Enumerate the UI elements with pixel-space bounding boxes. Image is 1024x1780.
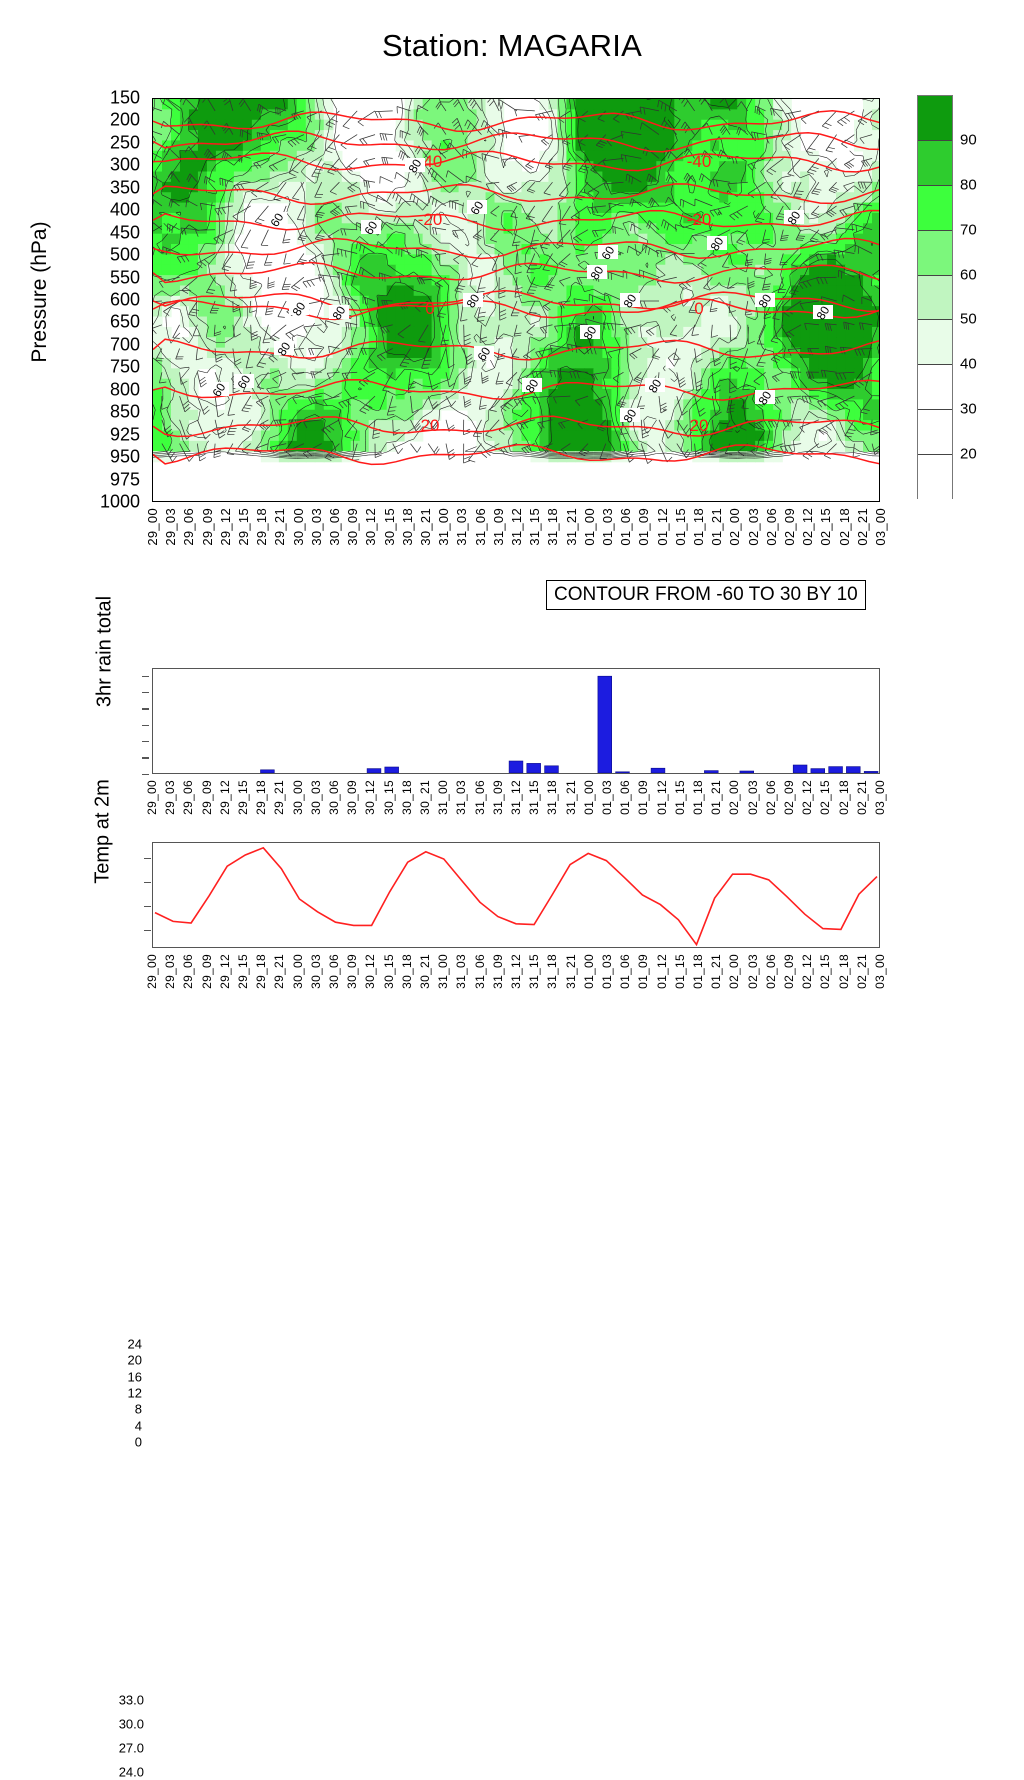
x-tick-02_18: 02_18 (837, 780, 851, 815)
x-tick-02_03: 02_03 (746, 780, 760, 815)
pressure-tick-300: 300 (96, 155, 140, 176)
rain-bar (829, 767, 843, 773)
page-title: Station: MAGARIA (0, 28, 1024, 64)
rain-tick-0: 0 (102, 1435, 142, 1450)
x-tick-30_06: 30_06 (327, 508, 342, 546)
x-tick-01_00: 01_00 (582, 780, 596, 815)
x-tick-02_00: 02_00 (727, 780, 741, 815)
colorbar-tick-60: 60 (960, 266, 977, 283)
x-tick-01_21: 01_21 (709, 954, 723, 989)
x-tick-30_03: 30_03 (309, 954, 323, 989)
temp-contour-label: 20 (421, 416, 440, 435)
x-tick-01_15: 01_15 (673, 954, 687, 989)
x-tick-31_18: 31_18 (545, 780, 559, 815)
x-tick-29_06: 29_06 (181, 954, 195, 989)
x-tick-29_12: 29_12 (218, 780, 232, 815)
x-tick-31_00: 31_00 (436, 508, 451, 546)
x-tick-01_18: 01_18 (691, 780, 705, 815)
x-tick-02_21: 02_21 (855, 508, 870, 546)
pressure-tick-250: 250 (96, 132, 140, 153)
colorbar-tick-80: 80 (960, 176, 977, 193)
colorbar-band-2 (918, 186, 952, 231)
x-tick-29_03: 29_03 (163, 508, 178, 546)
x-tick-31_09: 31_09 (491, 954, 505, 989)
x-tick-29_09: 29_09 (200, 954, 214, 989)
temp-y-axis-ticks: 24.027.030.033.0 (96, 842, 146, 948)
colorbar-band-4 (918, 276, 952, 321)
pressure-tick-850: 850 (96, 402, 140, 423)
main-x-axis-ticks: 29_0029_0329_0629_0929_1229_1529_1829_21… (152, 508, 880, 578)
temp-contour-label: -20 (687, 210, 712, 229)
temp-plot-svg (153, 843, 879, 947)
rain-bar-chart[interactable] (152, 668, 880, 774)
x-tick-29_18: 29_18 (254, 508, 269, 546)
x-tick-31_09: 31_09 (491, 508, 506, 546)
rain-plot-svg (153, 669, 879, 773)
x-tick-30_00: 30_00 (291, 508, 306, 546)
colorbar-band-3 (918, 231, 952, 276)
x-tick-29_09: 29_09 (200, 508, 215, 546)
x-tick-31_03: 31_03 (454, 780, 468, 815)
x-tick-30_03: 30_03 (309, 508, 324, 546)
x-tick-01_00: 01_00 (582, 508, 597, 546)
x-tick-01_00: 01_00 (582, 954, 596, 989)
x-tick-31_21: 31_21 (564, 954, 578, 989)
x-tick-02_18: 02_18 (837, 508, 852, 546)
x-tick-02_06: 02_06 (764, 780, 778, 815)
rain-bar (616, 772, 630, 773)
main-plot-svg: -40-40-20-200020206060606060606080808080… (153, 99, 880, 502)
x-tick-02_12: 02_12 (800, 780, 814, 815)
main-y-axis-label: Pressure (hPa) (28, 112, 52, 472)
x-tick-29_15: 29_15 (236, 954, 250, 989)
rain-tickmark (142, 757, 149, 758)
x-tick-30_06: 30_06 (327, 954, 341, 989)
pressure-tick-200: 200 (96, 110, 140, 131)
x-tick-31_00: 31_00 (436, 780, 450, 815)
colorbar-tick-90: 90 (960, 131, 977, 148)
x-tick-29_21: 29_21 (272, 508, 287, 546)
x-tick-02_09: 02_09 (782, 780, 796, 815)
contour-note-box: CONTOUR FROM -60 TO 30 BY 10 (546, 580, 866, 610)
pressure-tick-600: 600 (96, 290, 140, 311)
x-tick-31_18: 31_18 (545, 954, 559, 989)
colorbar-band-6 (918, 365, 952, 410)
temp-contour-label: 0 (694, 299, 703, 318)
x-tick-31_21: 31_21 (564, 780, 578, 815)
colorbar-band-7 (918, 410, 952, 455)
colorbar-band-5 (918, 320, 952, 365)
x-tick-30_21: 30_21 (418, 780, 432, 815)
x-tick-29_18: 29_18 (254, 954, 268, 989)
x-tick-02_21: 02_21 (855, 780, 869, 815)
rain-bar (793, 765, 807, 773)
x-tick-02_03: 02_03 (746, 954, 760, 989)
pressure-tick-650: 650 (96, 312, 140, 333)
rain-bar (509, 761, 523, 773)
x-tick-31_00: 31_00 (436, 954, 450, 989)
x-tick-30_12: 30_12 (363, 508, 378, 546)
rain-tick-16: 16 (102, 1369, 142, 1384)
rain-bar (846, 767, 860, 773)
x-tick-29_09: 29_09 (200, 780, 214, 815)
x-tick-02_21: 02_21 (855, 954, 869, 989)
x-tick-30_12: 30_12 (363, 954, 377, 989)
temp-tickmark (144, 882, 151, 883)
rain-tickmark (142, 708, 149, 709)
pressure-tick-500: 500 (96, 245, 140, 266)
x-tick-31_06: 31_06 (473, 508, 488, 546)
x-tick-29_00: 29_00 (145, 780, 159, 815)
x-tick-30_18: 30_18 (400, 780, 414, 815)
time-height-cross-section[interactable]: -40-40-20-200020206060606060606080808080… (152, 98, 880, 502)
rain-tickmark (142, 676, 149, 677)
temp-tick-33.0: 33.0 (98, 1693, 144, 1708)
x-tick-30_00: 30_00 (291, 954, 305, 989)
x-tick-29_12: 29_12 (218, 508, 233, 546)
x-tick-01_18: 01_18 (691, 954, 705, 989)
rain-tick-24: 24 (102, 1337, 142, 1352)
x-tick-29_03: 29_03 (163, 780, 177, 815)
x-tick-02_12: 02_12 (800, 954, 814, 989)
rain-tickmark (142, 692, 149, 693)
rain-bar (385, 767, 399, 773)
x-tick-02_00: 02_00 (727, 954, 741, 989)
rain-tick-20: 20 (102, 1353, 142, 1368)
x-tick-02_15: 02_15 (818, 780, 832, 815)
pressure-tick-400: 400 (96, 200, 140, 221)
rain-bar (261, 770, 275, 773)
colorbar-tick-70: 70 (960, 221, 977, 238)
temp-tick-24.0: 24.0 (98, 1765, 144, 1780)
rain-bar (598, 676, 612, 773)
pressure-tick-450: 450 (96, 222, 140, 243)
x-tick-02_06: 02_06 (764, 954, 778, 989)
x-tick-31_18: 31_18 (545, 508, 560, 546)
rain-tick-12: 12 (102, 1386, 142, 1401)
temp-contour-label: 0 (425, 299, 434, 318)
x-tick-02_03: 02_03 (746, 508, 761, 546)
pressure-tick-150: 150 (96, 88, 140, 109)
x-tick-01_09: 01_09 (636, 954, 650, 989)
x-tick-29_06: 29_06 (181, 508, 196, 546)
x-tick-01_15: 01_15 (673, 508, 688, 546)
x-tick-30_06: 30_06 (327, 780, 341, 815)
x-tick-30_15: 30_15 (382, 780, 396, 815)
x-tick-01_12: 01_12 (655, 508, 670, 546)
x-tick-01_12: 01_12 (655, 954, 669, 989)
x-tick-01_06: 01_06 (618, 508, 633, 546)
x-tick-29_21: 29_21 (272, 954, 286, 989)
pressure-tick-975: 975 (96, 469, 140, 490)
temp-contour-label: -40 (687, 152, 712, 171)
temp-x-axis-ticks: 29_0029_0329_0629_0929_1229_1529_1829_21… (152, 954, 880, 1016)
rain-tickmark (142, 725, 149, 726)
x-tick-02_18: 02_18 (837, 954, 851, 989)
x-tick-30_09: 30_09 (345, 954, 359, 989)
x-tick-01_06: 01_06 (618, 780, 632, 815)
colorbar-band-0 (918, 96, 952, 141)
pressure-tick-800: 800 (96, 379, 140, 400)
colorbar-band-1 (918, 141, 952, 186)
x-tick-31_06: 31_06 (473, 780, 487, 815)
rain-bar (651, 768, 665, 773)
pressure-tick-550: 550 (96, 267, 140, 288)
pressure-tick-700: 700 (96, 334, 140, 355)
x-tick-30_21: 30_21 (418, 954, 432, 989)
rain-bar (527, 763, 541, 773)
colorbar-tick-20: 20 (960, 446, 977, 463)
pressure-tick-950: 950 (96, 447, 140, 468)
colorbar-labels: 9080706050403020 (960, 95, 1006, 499)
x-tick-01_15: 01_15 (673, 780, 687, 815)
x-tick-29_00: 29_00 (145, 954, 159, 989)
x-tick-31_03: 31_03 (454, 954, 468, 989)
x-tick-29_12: 29_12 (218, 954, 232, 989)
x-tick-03_00: 03_00 (873, 780, 887, 815)
x-tick-29_21: 29_21 (272, 780, 286, 815)
x-tick-30_03: 30_03 (309, 780, 323, 815)
x-tick-01_06: 01_06 (618, 954, 632, 989)
x-tick-01_09: 01_09 (636, 780, 650, 815)
x-tick-31_15: 31_15 (527, 780, 541, 815)
colorbar[interactable] (917, 95, 953, 499)
x-tick-31_09: 31_09 (491, 780, 505, 815)
x-tick-30_18: 30_18 (400, 508, 415, 546)
rain-x-axis-ticks: 29_0029_0329_0629_0929_1229_1529_1829_21… (152, 780, 880, 842)
x-tick-03_00: 03_00 (873, 954, 887, 989)
x-tick-02_00: 02_00 (727, 508, 742, 546)
temp-contour-label: -20 (418, 210, 443, 229)
temp-contour-label: 20 (690, 416, 709, 435)
x-tick-01_18: 01_18 (691, 508, 706, 546)
x-tick-30_09: 30_09 (345, 508, 360, 546)
x-tick-30_12: 30_12 (363, 780, 377, 815)
x-tick-01_03: 01_03 (600, 954, 614, 989)
x-tick-31_15: 31_15 (527, 508, 542, 546)
x-tick-30_18: 30_18 (400, 954, 414, 989)
x-tick-02_09: 02_09 (782, 508, 797, 546)
x-tick-29_15: 29_15 (236, 780, 250, 815)
colorbar-tick-40: 40 (960, 356, 977, 373)
pressure-tick-350: 350 (96, 177, 140, 198)
x-tick-01_21: 01_21 (709, 780, 723, 815)
x-tick-02_06: 02_06 (764, 508, 779, 546)
x-tick-31_06: 31_06 (473, 954, 487, 989)
x-tick-01_21: 01_21 (709, 508, 724, 546)
x-tick-30_15: 30_15 (382, 508, 397, 546)
rain-tickmark (142, 741, 149, 742)
x-tick-02_15: 02_15 (818, 508, 833, 546)
colorbar-band-8 (918, 455, 952, 500)
colorbar-tick-50: 50 (960, 311, 977, 328)
x-tick-01_03: 01_03 (600, 780, 614, 815)
temp-tickmark (144, 930, 151, 931)
pressure-tick-1000: 1000 (96, 492, 140, 513)
x-tick-01_12: 01_12 (655, 780, 669, 815)
x-tick-30_00: 30_00 (291, 780, 305, 815)
x-tick-29_15: 29_15 (236, 508, 251, 546)
rain-bar (811, 769, 825, 773)
x-tick-02_09: 02_09 (782, 954, 796, 989)
temp-tickmark (144, 858, 151, 859)
x-tick-30_21: 30_21 (418, 508, 433, 546)
x-tick-30_09: 30_09 (345, 780, 359, 815)
rain-bar (367, 769, 381, 773)
rain-tickmark (142, 774, 149, 775)
x-tick-29_03: 29_03 (163, 954, 177, 989)
temp-tick-27.0: 27.0 (98, 1741, 144, 1756)
x-tick-29_06: 29_06 (181, 780, 195, 815)
x-tick-01_03: 01_03 (600, 508, 615, 546)
rain-bar (740, 771, 754, 773)
x-tick-31_12: 31_12 (509, 508, 524, 546)
rain-bar (864, 771, 878, 773)
colorbar-tick-30: 30 (960, 401, 977, 418)
pressure-tick-925: 925 (96, 424, 140, 445)
x-tick-02_12: 02_12 (800, 508, 815, 546)
temp-tick-30.0: 30.0 (98, 1717, 144, 1732)
pressure-tick-750: 750 (96, 357, 140, 378)
x-tick-31_12: 31_12 (509, 780, 523, 815)
x-tick-29_18: 29_18 (254, 780, 268, 815)
temp-line (155, 848, 877, 945)
x-tick-02_15: 02_15 (818, 954, 832, 989)
temperature-line-chart[interactable] (152, 842, 880, 948)
x-tick-31_03: 31_03 (454, 508, 469, 546)
x-tick-31_12: 31_12 (509, 954, 523, 989)
rain-tick-4: 4 (102, 1418, 142, 1433)
rain-bar (704, 771, 718, 773)
x-tick-31_15: 31_15 (527, 954, 541, 989)
x-tick-03_00: 03_00 (873, 508, 888, 546)
temp-tickmark (144, 906, 151, 907)
x-tick-31_21: 31_21 (564, 508, 579, 546)
rain-bar (545, 766, 559, 773)
rain-tick-8: 8 (102, 1402, 142, 1417)
x-tick-01_09: 01_09 (636, 508, 651, 546)
x-tick-30_15: 30_15 (382, 954, 396, 989)
x-tick-29_00: 29_00 (145, 508, 160, 546)
